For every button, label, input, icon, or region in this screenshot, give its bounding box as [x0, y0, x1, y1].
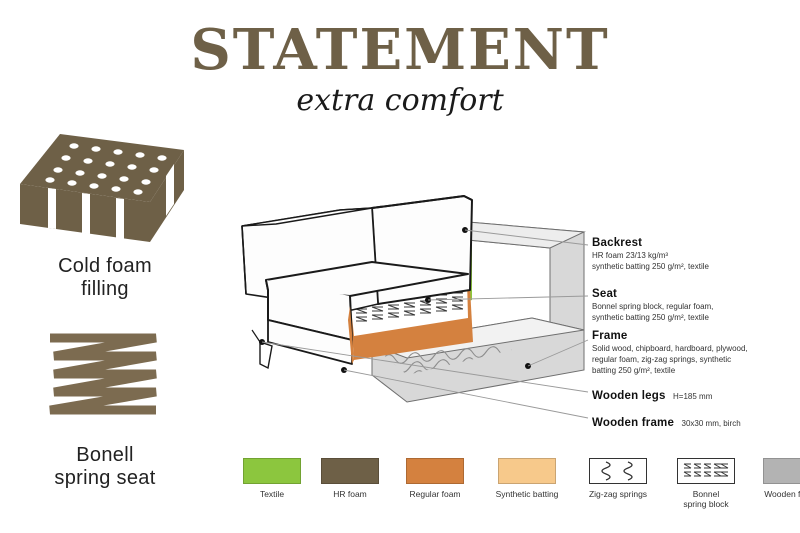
legend-swatch-regular-foam: [406, 458, 464, 484]
legend-label-regular-foam: Regular foam: [397, 489, 473, 499]
legend-item-bonnel-spring-block: Bonnel spring block: [664, 458, 748, 509]
callout-wooden-legs-title: Wooden legs: [592, 390, 666, 402]
legend-label-hr-foam: HR foam: [318, 489, 382, 499]
materials-legend: Textile HR foam Regular foam Synthetic b…: [240, 458, 800, 520]
callout-wooden-frame-title: Wooden frame: [592, 417, 674, 429]
callout-backrest-title: Backrest: [592, 237, 800, 249]
legend-item-hr-foam: HR foam: [318, 458, 382, 499]
legend-item-textile: Textile: [240, 458, 304, 499]
connector-dot-frame: [525, 363, 531, 369]
sofa-cutaway-illustration: [232, 170, 592, 420]
cold-foam-caption: Cold foam filling: [0, 255, 210, 301]
callout-seat-title: Seat: [592, 288, 800, 300]
legend-item-wooden-frame: Wooden frame: [752, 458, 800, 499]
legend-label-bonnel-spring-block: Bonnel spring block: [664, 489, 748, 509]
legend-label-synthetic-batting: Synthetic batting: [483, 489, 571, 499]
infographic-canvas: STATEMENT extra comfort: [0, 0, 800, 533]
callout-seat-detail: Bonnel spring block, regular foam, synth…: [592, 302, 800, 324]
legend-swatch-zig-zag-springs: [589, 458, 647, 484]
legend-swatch-bonnel-spring-block: [677, 458, 735, 484]
connector-dot-wooden-frame: [341, 367, 347, 373]
callout-wooden-frame-detail: 30x30 mm, birch: [682, 419, 741, 428]
cold-foam-illustration: [14, 128, 196, 248]
callout-frame-detail: Solid wood, chipboard, hardboard, plywoo…: [592, 344, 800, 376]
callout-wooden-legs: Wooden legs H=185 mm: [592, 386, 800, 404]
legend-item-zig-zag-springs: Zig-zag springs: [576, 458, 660, 499]
legend-label-textile: Textile: [240, 489, 304, 499]
callout-backrest-detail: HR foam 23/13 kg/m³ synthetic batting 25…: [592, 251, 800, 273]
connector-dot-seat: [425, 297, 431, 303]
legend-swatch-synthetic-batting: [498, 458, 556, 484]
page-title: STATEMENT: [0, 22, 800, 78]
bonell-spring-caption: Bonell spring seat: [0, 444, 210, 490]
connector-dot-legs: [259, 339, 265, 345]
legend-swatch-hr-foam: [321, 458, 379, 484]
callout-seat: Seat Bonnel spring block, regular foam, …: [592, 288, 800, 324]
callout-wooden-frame: Wooden frame 30x30 mm, birch: [592, 413, 800, 431]
legend-item-regular-foam: Regular foam: [397, 458, 473, 499]
legend-item-synthetic-batting: Synthetic batting: [483, 458, 571, 499]
legend-swatch-textile: [243, 458, 301, 484]
page-subtitle: extra comfort: [0, 86, 800, 116]
legend-label-wooden-frame: Wooden frame: [752, 489, 800, 499]
callout-wooden-legs-detail: H=185 mm: [673, 392, 712, 401]
legend-swatch-wooden-frame: [763, 458, 800, 484]
connector-dot-backrest: [462, 227, 468, 233]
callout-frame-title: Frame: [592, 330, 800, 342]
bonell-spring-illustration: [44, 330, 166, 420]
callout-backrest: Backrest HR foam 23/13 kg/m³ synthetic b…: [592, 237, 800, 273]
callout-frame: Frame Solid wood, chipboard, hardboard, …: [592, 330, 800, 376]
legend-label-zig-zag-springs: Zig-zag springs: [576, 489, 660, 499]
